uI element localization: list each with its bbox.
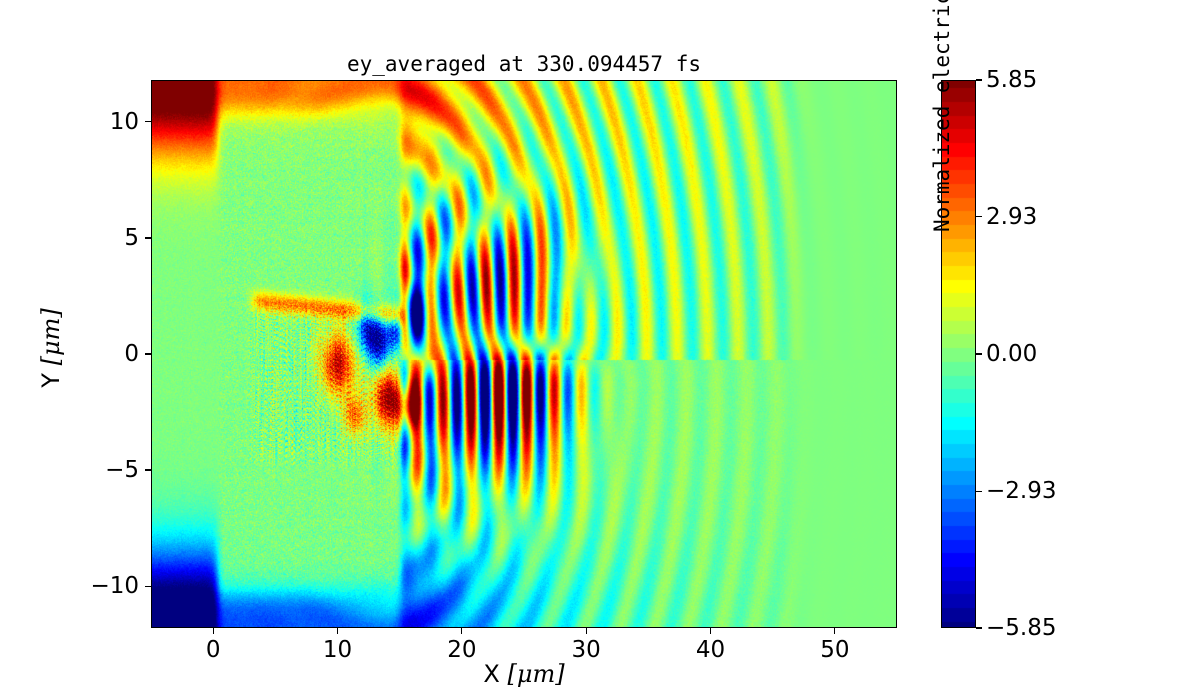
y-tick-label: −5 bbox=[105, 457, 139, 483]
x-tick-mark bbox=[461, 628, 462, 634]
y-tick-mark bbox=[145, 121, 151, 122]
y-axis-label: Y [μm] bbox=[37, 218, 65, 478]
colorbar-label: Normalized electric field bbox=[930, 0, 954, 354]
x-tick-mark bbox=[213, 628, 214, 634]
x-axis-label: X [μm] bbox=[151, 660, 897, 688]
y-tick-label: 10 bbox=[110, 109, 139, 135]
x-tick-mark bbox=[586, 628, 587, 634]
colorbar-tick-label: 2.93 bbox=[986, 204, 1037, 230]
y-tick-label: 0 bbox=[124, 341, 139, 367]
y-tick-mark bbox=[145, 469, 151, 470]
y-tick-label: 5 bbox=[124, 225, 139, 251]
colorbar-tick-mark bbox=[976, 491, 982, 492]
colorbar-tick-label: 5.85 bbox=[986, 67, 1037, 93]
y-tick-mark bbox=[145, 586, 151, 587]
colorbar-tick-label: −2.93 bbox=[986, 478, 1056, 504]
heatmap-plot-area[interactable] bbox=[151, 80, 897, 628]
y-axis-label-unit: [μm] bbox=[37, 308, 65, 365]
page-title: ey_averaged at 330.094457 fs bbox=[151, 52, 897, 76]
colorbar-tick-mark bbox=[976, 216, 982, 217]
field-heatmap-image bbox=[152, 81, 897, 628]
colorbar-tick-mark bbox=[976, 79, 982, 80]
x-axis-label-unit: [μm] bbox=[508, 660, 565, 688]
x-tick-mark bbox=[710, 628, 711, 634]
colorbar-tick-label: 0.00 bbox=[986, 341, 1037, 367]
colorbar-tick-mark bbox=[976, 353, 982, 354]
x-tick-mark bbox=[337, 628, 338, 634]
y-axis-label-text: Y bbox=[37, 373, 65, 388]
colorbar-tick-mark bbox=[976, 627, 982, 628]
y-tick-mark bbox=[145, 237, 151, 238]
y-tick-mark bbox=[145, 353, 151, 354]
x-tick-mark bbox=[834, 628, 835, 634]
colorbar-tick-label: −5.85 bbox=[986, 615, 1056, 641]
y-tick-label: −10 bbox=[90, 573, 139, 599]
x-axis-label-text: X bbox=[483, 660, 499, 688]
figure-canvas: ey_averaged at 330.094457 fs 01020304050… bbox=[0, 0, 1200, 700]
